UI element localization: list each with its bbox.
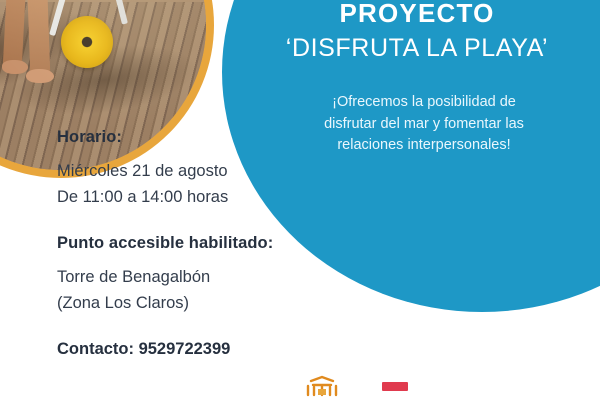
- headline-block: PROYECTO ‘DISFRUTA LA PLAYA’: [246, 0, 588, 66]
- location-zone: (Zona Los Claros): [57, 290, 357, 316]
- subheadline-line-1: ¡Ofrecemos la posibilidad de: [278, 92, 570, 114]
- location-value: Torre de Benagalbón (Zona Los Claros): [57, 264, 357, 316]
- red-bar-logo-icon: [382, 382, 408, 391]
- schedule-label: Horario:: [57, 126, 357, 148]
- schedule-time: De 11:00 a 14:00 horas: [57, 184, 357, 210]
- headline-project-name: ‘DISFRUTA LA PLAYA’: [246, 30, 588, 66]
- contact-phone: Contacto: 9529722399: [57, 338, 357, 360]
- schedule-date: Miércoles 21 de agosto: [57, 158, 357, 184]
- headline-proyecto: PROYECTO: [246, 0, 588, 30]
- information-block: Horario: Miércoles 21 de agosto De 11:00…: [57, 126, 357, 360]
- location-place: Torre de Benagalbón: [57, 264, 357, 290]
- schedule-value: Miércoles 21 de agosto De 11:00 a 14:00 …: [57, 158, 357, 210]
- location-label: Punto accesible habilitado:: [57, 232, 357, 254]
- poster-canvas: PROYECTO ‘DISFRUTA LA PLAYA’ ¡Ofrecemos …: [0, 0, 600, 400]
- logo-strip: [300, 372, 590, 400]
- orange-structure-logo-icon: [300, 372, 344, 398]
